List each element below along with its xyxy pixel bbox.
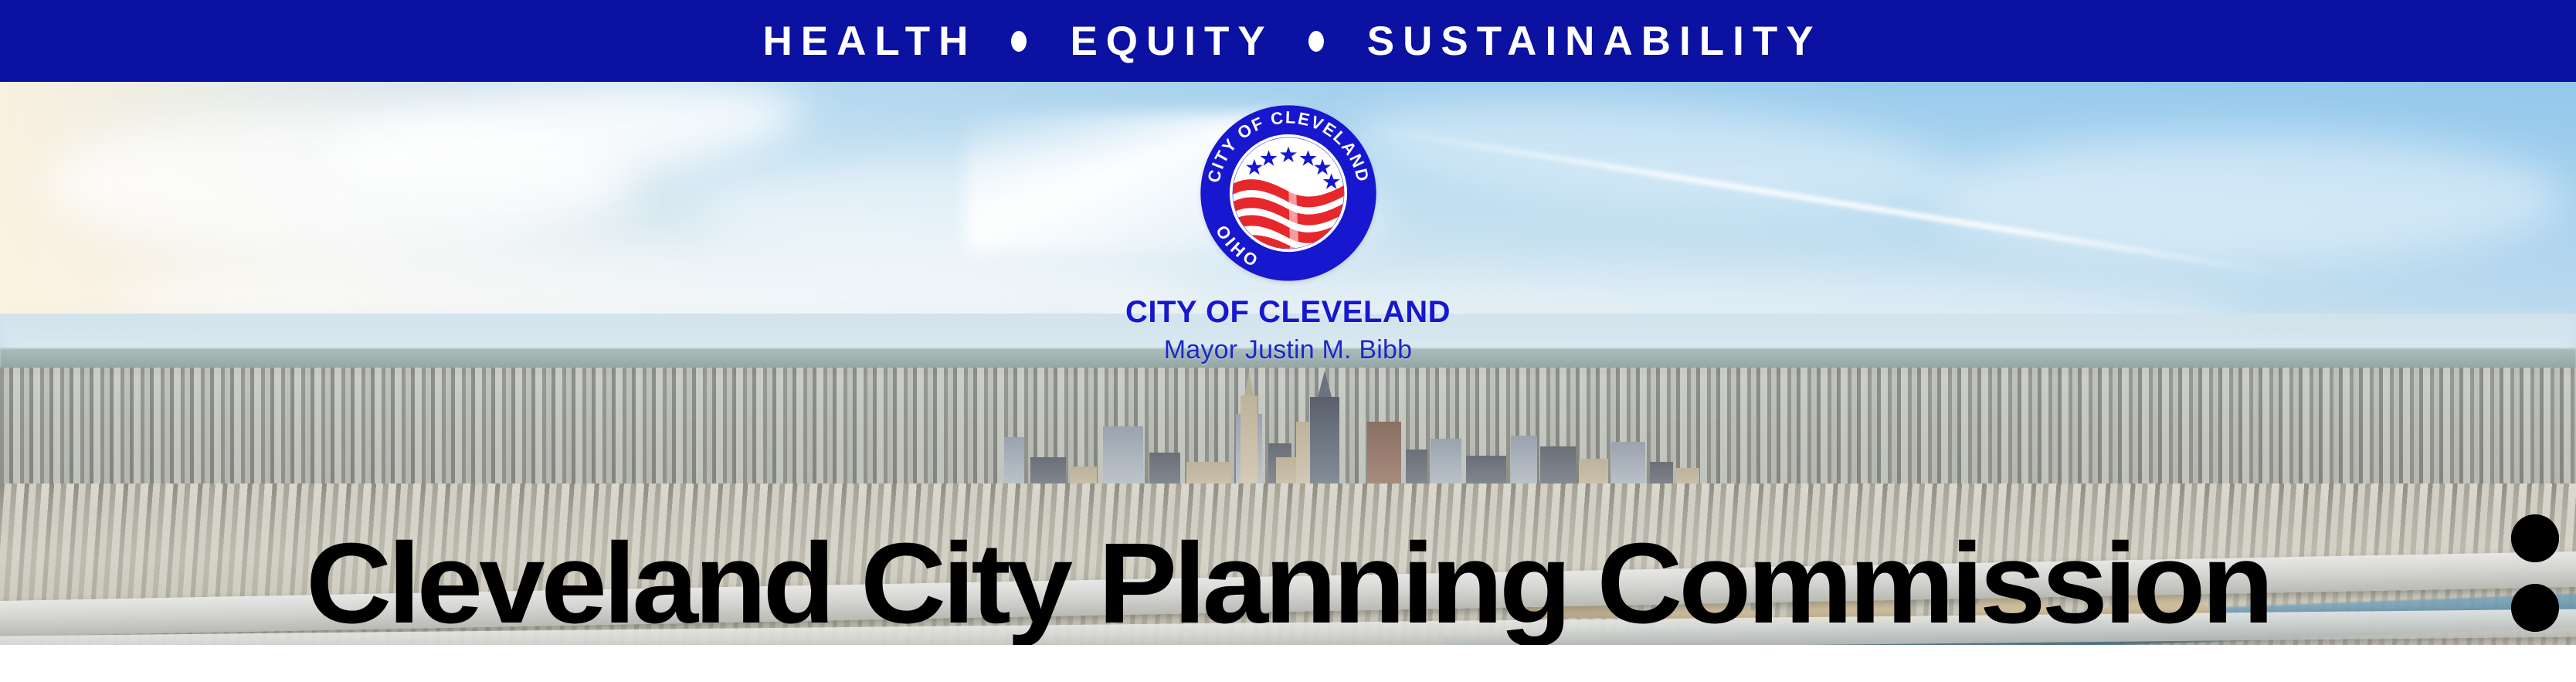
mayor-name-label: Mayor Justin M. Bibb xyxy=(1164,337,1412,363)
tagline-bar: HEALTH EQUITY SUSTAINABILITY xyxy=(0,0,2576,82)
tagline-word-health: HEALTH xyxy=(754,21,976,62)
page-title: Cleveland City Planning Commission xyxy=(0,527,2576,641)
city-name-label: CITY OF CLEVELAND xyxy=(1125,297,1451,327)
tagline-separator-dot-1 xyxy=(1011,31,1027,52)
instagram-icon[interactable] xyxy=(2511,584,2559,632)
social-links xyxy=(2511,514,2559,645)
tagline-inner: HEALTH EQUITY SUSTAINABILITY xyxy=(754,21,1821,62)
youtube-icon[interactable] xyxy=(2511,514,2559,562)
page-root: HEALTH EQUITY SUSTAINABILITY xyxy=(0,0,2576,682)
city-of-cleveland-seal-icon: CITY OF CLEVELAND OHIO xyxy=(1199,103,1378,283)
tagline-word-equity: EQUITY xyxy=(1061,21,1273,62)
bottom-white-strip xyxy=(0,645,2576,682)
hero-photo: CITY OF CLEVELAND OHIO CITY OF CLEVELAND… xyxy=(0,82,2576,645)
tagline-separator-dot-2 xyxy=(1308,31,1324,52)
branding-block: CITY OF CLEVELAND OHIO CITY OF CLEVELAND… xyxy=(0,82,2576,363)
tagline-word-sustainability: SUSTAINABILITY xyxy=(1359,21,1822,62)
